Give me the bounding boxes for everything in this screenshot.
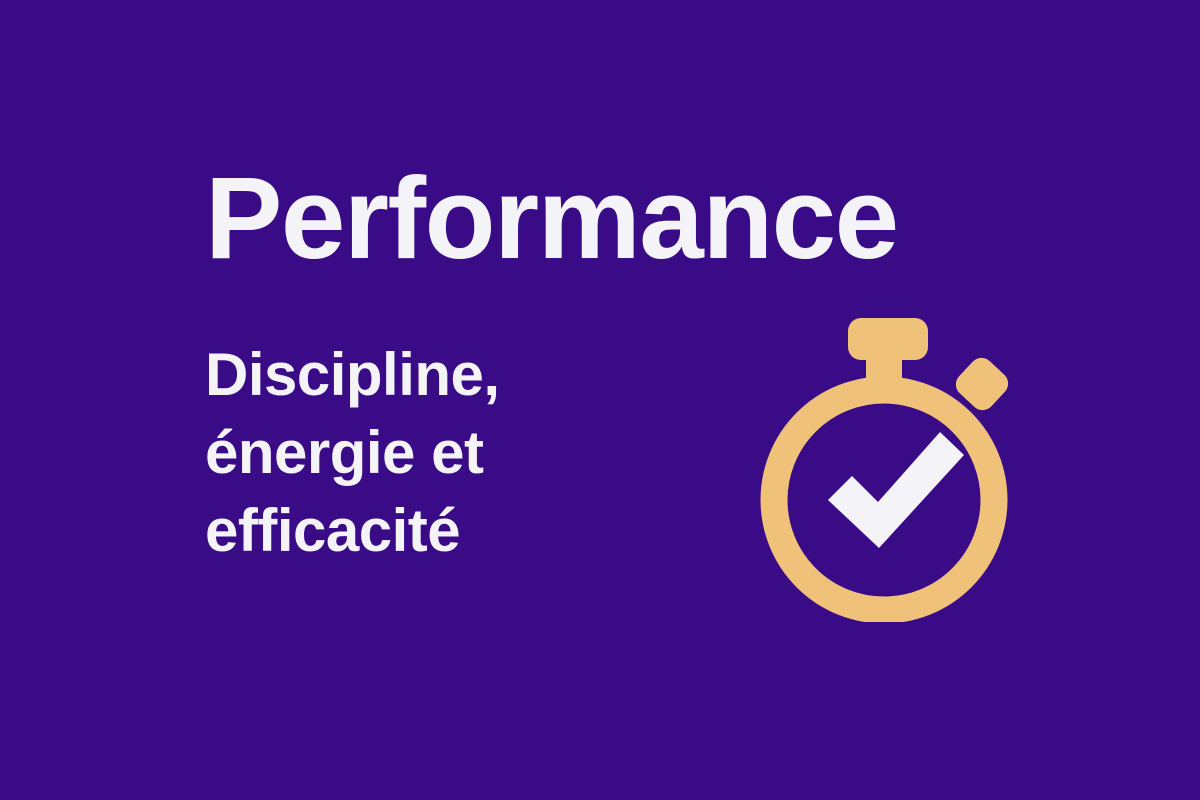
stopwatch-body — [774, 318, 1013, 610]
text-block: Performance Discipline, énergie et effic… — [205, 0, 765, 800]
page-title: Performance — [205, 160, 898, 276]
subtitle-line-3: efficacité — [205, 492, 500, 570]
subtitle-line-2: énergie et — [205, 414, 500, 492]
subtitle-block: Discipline, énergie et efficacité — [205, 336, 500, 570]
stopwatch-crown — [848, 318, 928, 360]
performance-slide: Performance Discipline, énergie et effic… — [0, 0, 1200, 800]
checkmark-icon — [828, 432, 964, 548]
stopwatch-check-icon — [752, 310, 1024, 622]
subtitle-line-1: Discipline, — [205, 336, 500, 414]
